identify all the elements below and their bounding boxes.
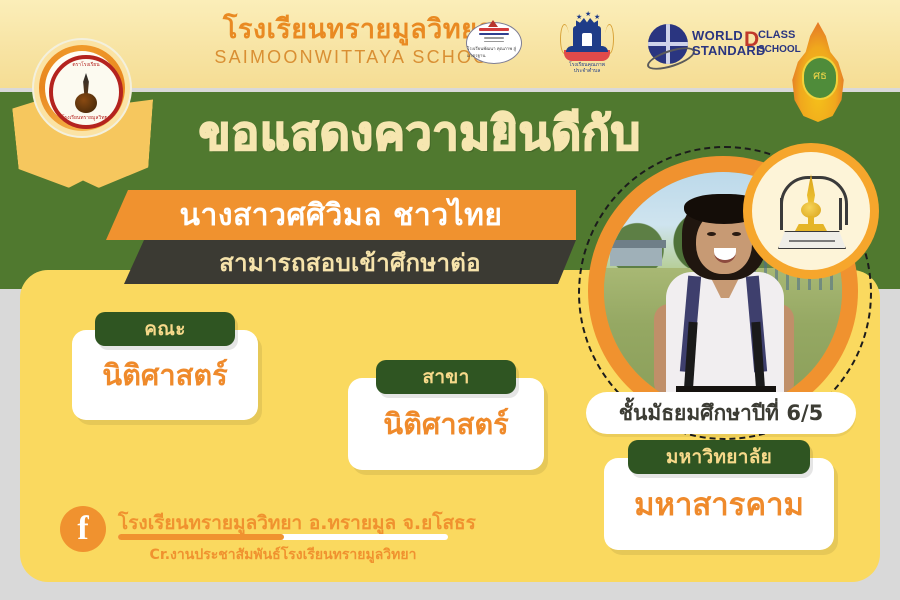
mahasarakham-university-emblem-icon	[752, 152, 870, 270]
info-card-major: สาขา นิติศาสตร์	[348, 360, 544, 470]
university-label-tab: มหาวิทยาลัย	[628, 440, 810, 474]
faculty-value: นิติศาสตร์	[102, 352, 227, 398]
major-label: สาขา	[422, 362, 469, 392]
student-name: นางสาวศศิวิมล ชาวไทย	[179, 192, 502, 239]
major-value: นิติศาสตร์	[383, 401, 508, 447]
faculty-label-tab: คณะ	[95, 312, 235, 346]
ministry-of-education-emblem-icon	[782, 22, 854, 122]
info-card-faculty: คณะ นิติศาสตร์	[72, 312, 258, 420]
major-label-tab: สาขา	[376, 360, 516, 394]
poster-footer: f โรงเรียนทรายมูลวิทยา อ.ทรายมูล จ.ยโสธร…	[60, 502, 520, 566]
faculty-label: คณะ	[144, 314, 185, 344]
congratulation-poster: โรงเรียนทรายมูลวิทยา SAIMOONWITTAYA SCHO…	[0, 0, 900, 600]
achievement-subtitle: สามารถสอบเข้าศึกษาต่อ	[219, 243, 481, 282]
seal-text-bottom: โรงเรียนทรายมูลวิทยา	[53, 114, 119, 122]
quality-school-logo-icon: ★ ★ ★ โรงเรียนคุณภาพ ประจำตำบล	[556, 14, 618, 76]
quality-award-seal-caption: โรงเรียนพัฒนา คุณภาพ สู่มาตรฐาน	[467, 45, 521, 59]
class-level-text: ชั้นมัธยมศึกษาปีที่ 6/5	[619, 397, 823, 430]
student-name-bar: นางสาวศศิวิมล ชาวไทย	[106, 190, 576, 240]
university-label: มหาวิทยาลัย	[666, 442, 772, 472]
quality-school-caption: โรงเรียนคุณภาพ ประจำตำบล	[556, 62, 618, 75]
university-value: มหาสารคาม	[634, 479, 804, 529]
world-class-standard-school-icon: WORLD STANDARD D CLASS SCHOOL	[648, 24, 768, 68]
achievement-subtitle-bar: สามารถสอบเข้าศึกษาต่อ	[124, 240, 576, 284]
info-card-university: มหาวิทยาลัย มหาสารคาม	[604, 440, 834, 550]
wcss-word-world: WORLD	[692, 28, 743, 43]
class-level-badge: ชั้นมัธยมศึกษาปีที่ 6/5	[586, 392, 856, 434]
facebook-glyph: f	[60, 509, 106, 549]
footer-divider	[118, 534, 448, 540]
seal-text-top: ตราโรงเรียน	[53, 61, 119, 69]
footer-credit: Cr.งานประชาสัมพันธ์โรงเรียนทรายมูลวิทยา	[118, 544, 448, 566]
school-seal-rosette-icon: ตราโรงเรียน โรงเรียนทรายมูลวิทยา	[28, 40, 134, 190]
wcss-letter-d: D	[744, 28, 759, 52]
quality-award-seal-icon: โรงเรียนพัฒนา คุณภาพ สู่มาตรฐาน	[466, 22, 520, 70]
facebook-icon[interactable]: f	[60, 506, 106, 552]
poster-header: โรงเรียนทรายมูลวิทยา SAIMOONWITTAYA SCHO…	[0, 0, 900, 88]
